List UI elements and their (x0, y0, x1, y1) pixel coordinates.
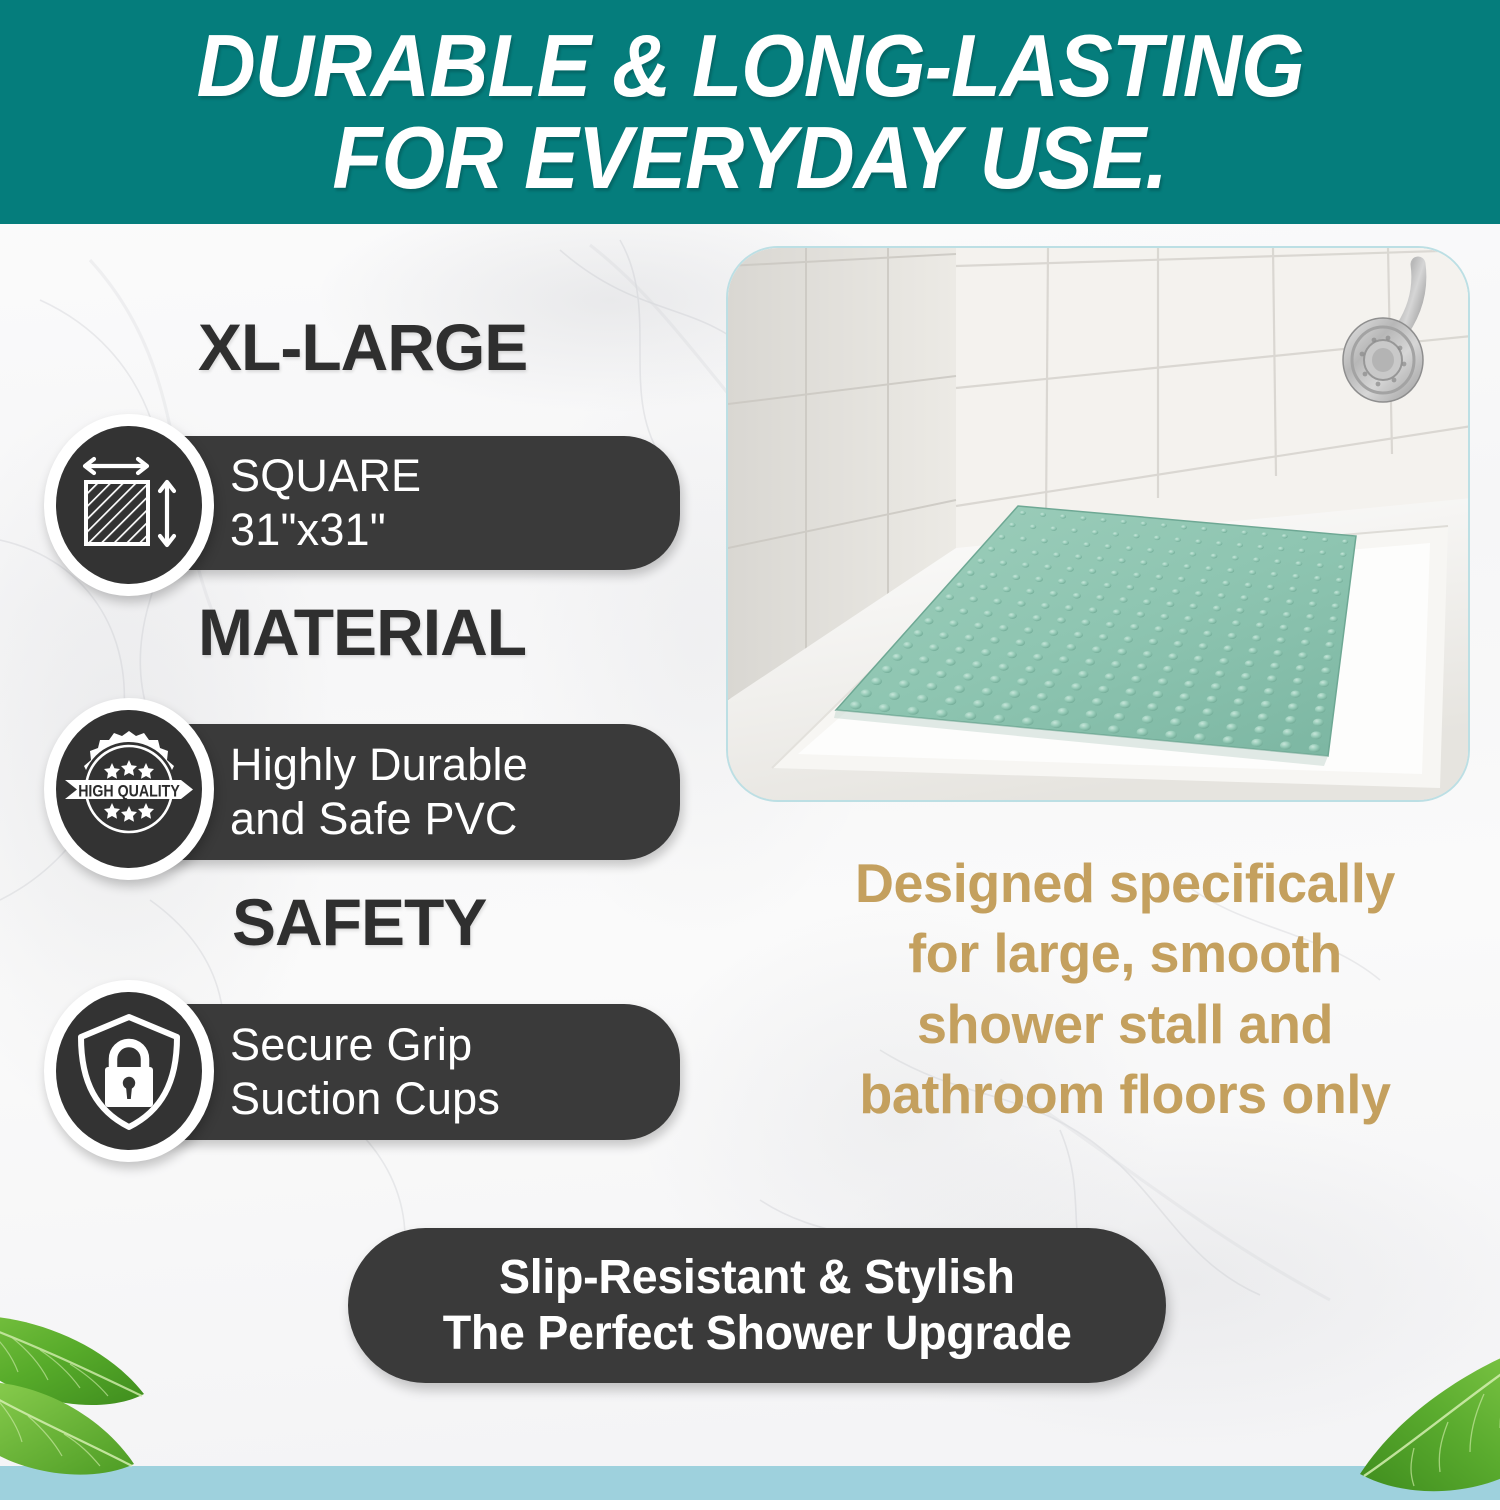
feature-pill-size-line2: 31"x31" (230, 503, 680, 557)
feature-icon-safety (44, 980, 214, 1162)
feature-heading-safety: SAFETY (232, 884, 486, 960)
high-quality-badge-label: HIGH QUALITY (78, 783, 180, 801)
shield-lock-icon (56, 992, 202, 1150)
feature-icon-size (44, 414, 214, 596)
description-text: Designed specifically for large, smooth … (770, 848, 1480, 1130)
feature-pill-safety-line1: Secure Grip (230, 1018, 680, 1072)
cta-line2: The Perfect Shower Upgrade (443, 1306, 1072, 1362)
banner-headline-line1: DURABLE & LONG-LASTING (196, 23, 1303, 109)
banner-headline-line2: FOR EVERYDAY USE. (333, 115, 1168, 201)
dimensions-icon (56, 426, 202, 584)
feature-pill-material-line1: Highly Durable (230, 738, 680, 792)
high-quality-badge-icon: HIGH QUALITY (56, 710, 202, 868)
feature-pill-safety-line2: Suction Cups (230, 1072, 680, 1126)
leaf-decoration-left (0, 1316, 292, 1506)
feature-heading-material: MATERIAL (198, 594, 526, 670)
feature-icon-material: HIGH QUALITY (44, 698, 214, 880)
feature-heading-size: XL-LARGE (198, 309, 527, 385)
feature-pill-size-line1: SQUARE (230, 449, 680, 503)
description-line3: shower stall and (777, 989, 1473, 1059)
header-banner: DURABLE & LONG-LASTING FOR EVERYDAY USE. (0, 0, 1500, 224)
description-line1: Designed specifically (777, 848, 1473, 918)
leaf-decoration-right (1268, 1350, 1500, 1510)
feature-pill-material-line2: and Safe PVC (230, 792, 680, 846)
feature-list: XL-LARGE SQUARE 31"x31" (0, 224, 740, 1224)
cta-banner: Slip-Resistant & Stylish The Perfect Sho… (348, 1228, 1166, 1383)
product-photo (726, 246, 1470, 802)
cta-line1: Slip-Resistant & Stylish (499, 1250, 1015, 1306)
description-line2: for large, smooth (777, 918, 1473, 988)
description-line4: bathroom floors only (777, 1059, 1473, 1129)
